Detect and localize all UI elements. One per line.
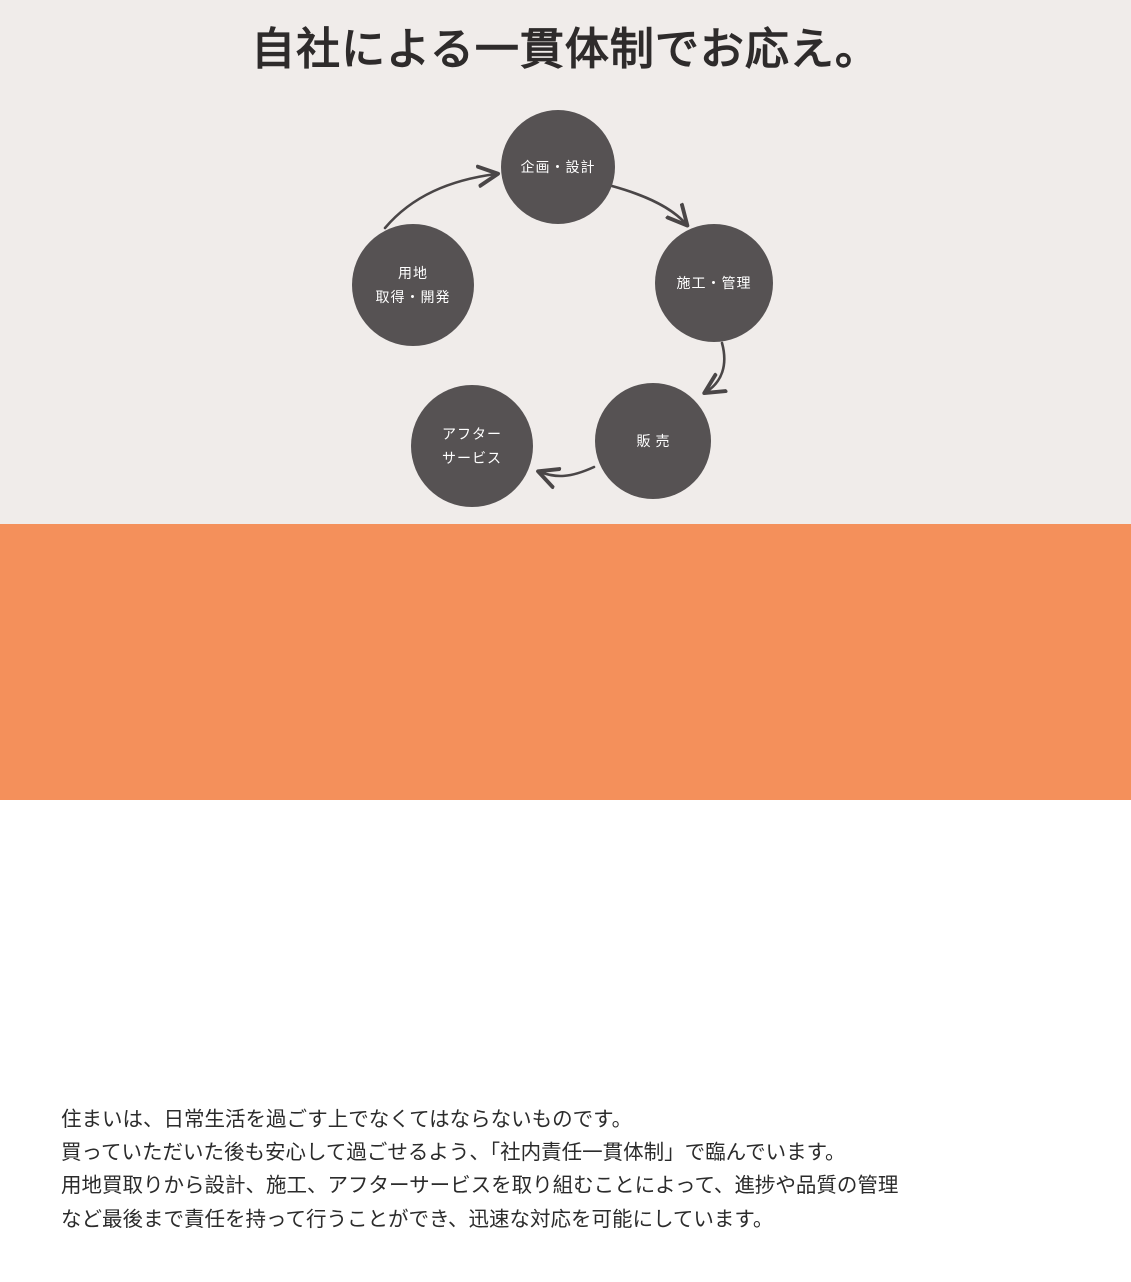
arrow-land-to-planning: [385, 174, 496, 228]
cycle-node-sales-label: 販売: [632, 429, 675, 454]
cycle-node-construction[interactable]: 施工・管理: [655, 224, 773, 342]
description-card: 住まいは、日常生活を過ごす上でなくてはならないものです。 買っていただいた後も安…: [37, 1084, 1104, 1282]
arrow-construct-to-sales: [706, 343, 724, 392]
cycle-node-sales[interactable]: 販売: [595, 383, 711, 499]
cycle-node-construction-label: 施工・管理: [677, 271, 752, 296]
cycle-arrows: [0, 0, 1131, 524]
cycle-node-after-sales-service-label: アフター サービス: [442, 422, 502, 471]
cycle-node-land-acquisition[interactable]: 用地 取得・開発: [352, 224, 474, 346]
cycle-node-after-sales-service[interactable]: アフター サービス: [411, 385, 533, 507]
cycle-node-planning-label: 企画・設計: [521, 155, 596, 180]
page-root: 自社による一貫体制でお応え。 企画・設計 施工・管理 販売: [0, 0, 1131, 800]
cycle-node-land-acquisition-label: 用地 取得・開発: [376, 261, 451, 310]
arrow-sales-to-aftersales: [540, 467, 594, 476]
arrow-planning-to-construct: [612, 186, 686, 224]
cycle-node-planning[interactable]: 企画・設計: [501, 110, 615, 224]
description-text: 住まいは、日常生活を過ごす上でなくてはならないものです。 買っていただいた後も安…: [61, 1104, 1080, 1237]
orange-band: 住まいは、日常生活を過ごす上でなくてはならないものです。 買っていただいた後も安…: [0, 524, 1131, 800]
diagram-panel: 自社による一貫体制でお応え。 企画・設計 施工・管理 販売: [0, 0, 1131, 524]
